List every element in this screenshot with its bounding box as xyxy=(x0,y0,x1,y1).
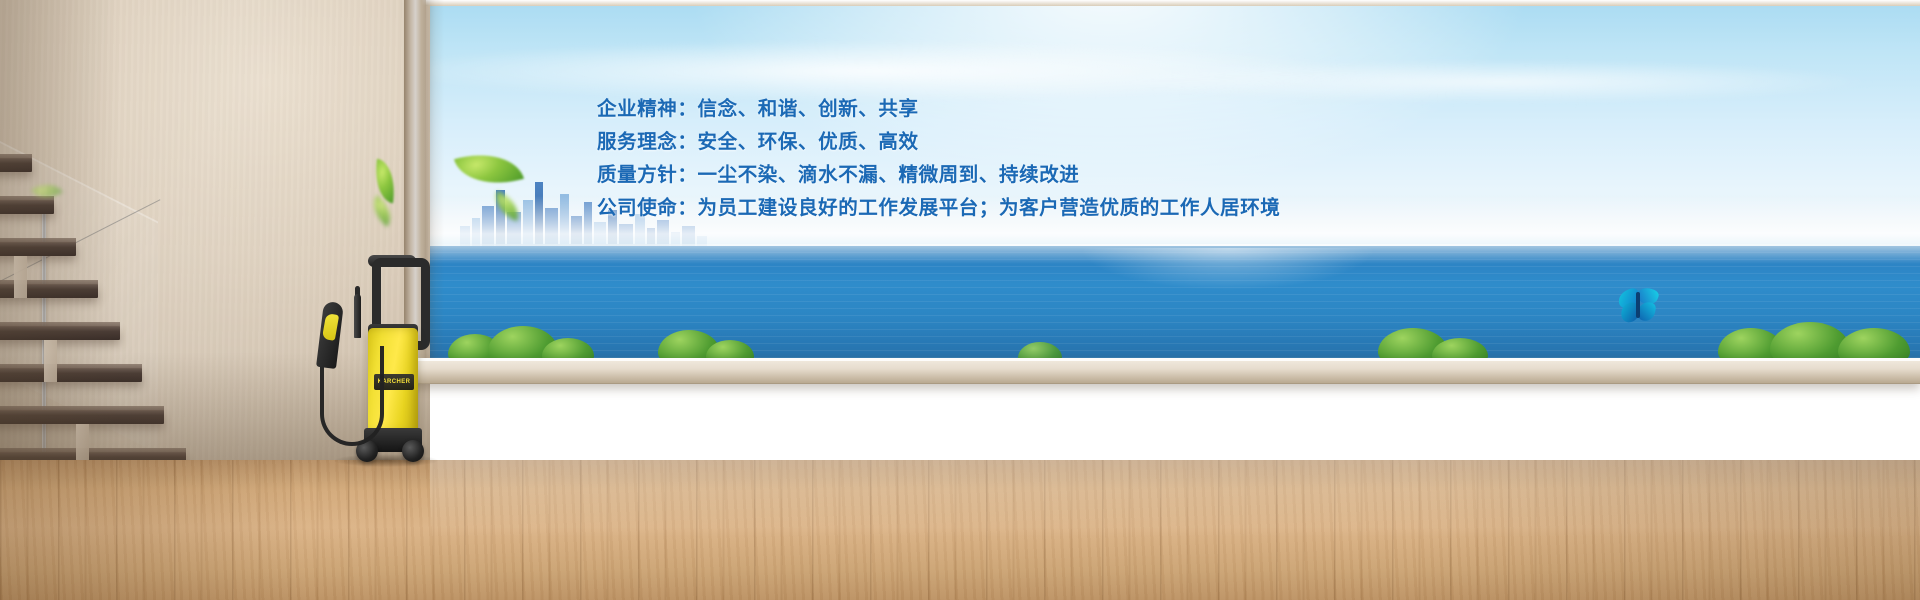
slogan-quality-policy: 质量方针：一尘不染、滴水不漏、精微周到、持续改进 xyxy=(597,159,1357,192)
banner-stage: KARCHER 企业精神：信念、和谐、创新、共享 服务理念：安全、环保、优质、高… xyxy=(0,0,1920,600)
blue-butterfly xyxy=(1618,288,1660,328)
pressure-washer: KARCHER xyxy=(316,258,424,463)
ceiling-moulding xyxy=(404,0,1920,6)
baseboard-highlight xyxy=(404,358,1920,361)
wood-floor xyxy=(0,460,1920,600)
slogan-service-philosophy: 服务理念：安全、环保、优质、高效 xyxy=(597,126,1357,159)
floor-shading xyxy=(0,460,1920,600)
slogan-corporate-spirit: 企业精神：信念、和谐、创新、共享 xyxy=(597,93,1357,126)
washer-lance xyxy=(354,294,361,338)
baseboard xyxy=(404,358,1920,384)
washer-wheel xyxy=(402,440,424,462)
slogan-company-mission: 公司使命：为员工建设良好的工作发展平台；为客户营造优质的工作人居环境 xyxy=(597,192,1357,225)
slogan-text-block: 企业精神：信念、和谐、创新、共享 服务理念：安全、环保、优质、高效 质量方针：一… xyxy=(597,93,1357,225)
